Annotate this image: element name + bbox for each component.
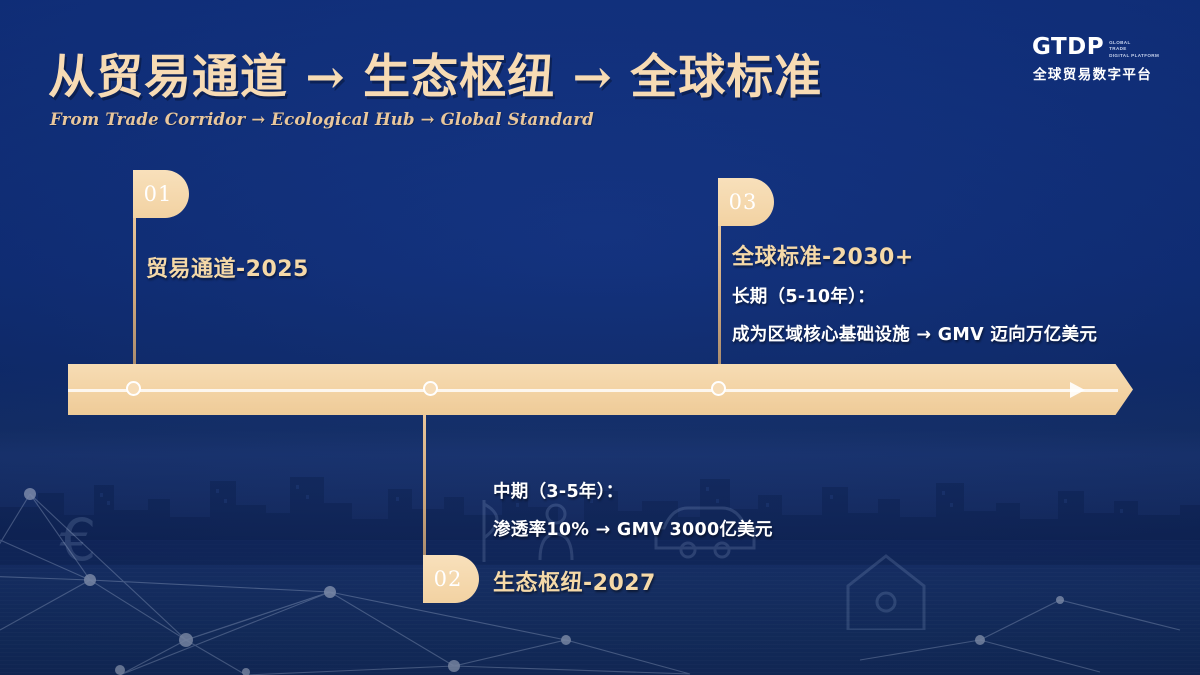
logo-chinese-name: 全球贸易数字平台 [1032,63,1182,83]
stage-03-badge-label: 03 [729,190,764,214]
slide-canvas: $ € € [0,0,1200,675]
stage-03-line-1: 长期（5-10年）： [732,283,875,308]
stage-01-stem [133,212,136,367]
stage-02-badge-label: 02 [434,567,469,591]
stage-02-line-1: 中期（3-5年）： [493,478,624,503]
timeline-node-01[interactable] [126,381,141,396]
logo-tagline-line3: DIGITAL PLATFORM [1109,53,1159,59]
timeline-node-03[interactable] [711,381,726,396]
timeline-axis-arrow-icon [1070,382,1085,398]
stage-02-badge[interactable]: 02 [423,555,479,603]
logo-wordmark: GTDP [1032,36,1104,59]
stage-03-title: 全球标准-2030+ [732,239,914,271]
stage-03-stem [718,220,721,368]
timeline-node-02[interactable] [423,381,438,396]
timeline-axis-line [68,389,1118,392]
page-title: 从贸易通道 → 生态枢纽 → 全球标准 [48,38,822,107]
stage-03-badge[interactable]: 03 [718,178,774,226]
logo-tagline: GLOBAL TRADE DIGITAL PLATFORM [1109,36,1159,59]
page-subtitle: From Trade Corridor → Ecological Hub → G… [50,110,594,129]
stage-01-title: 贸易通道-2025 [146,251,309,283]
stage-01-badge-label: 01 [144,182,179,206]
stage-02-stem [423,414,426,559]
stage-02-line-2: 渗透率10% → GMV 3000亿美元 [493,516,773,541]
stage-01-badge[interactable]: 01 [133,170,189,218]
timeline-bar [68,364,1133,415]
stage-02-title: 生态枢纽-2027 [493,565,656,597]
stage-03-line-2: 成为区域核心基础设施 → GMV 迈向万亿美元 [732,321,1097,346]
gtdp-logo: GTDP GLOBAL TRADE DIGITAL PLATFORM 全球贸易数… [1032,36,1182,86]
